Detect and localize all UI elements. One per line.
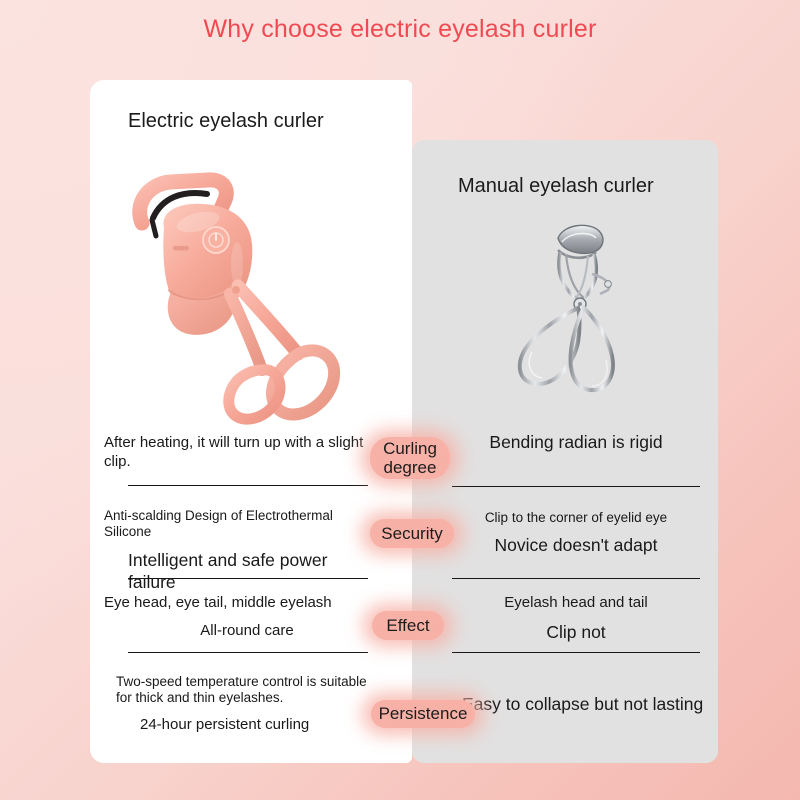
row-left-line: Two-speed temperature control is suitabl… (104, 674, 372, 707)
manual-curler-heading: Manual eyelash curler (458, 175, 654, 198)
row-right-content: Bending radian is rigid (448, 432, 704, 454)
electric-curler-heading: Electric eyelash curler (128, 110, 324, 133)
row-right-line: Clip not (448, 622, 704, 644)
row-right-line: Easy to collapse but not lasting (462, 694, 704, 716)
row-left-content: Eye head, eye tail, middle eyelash All-r… (104, 594, 372, 641)
row-left-line: Intelligent and safe power failure (104, 550, 372, 594)
row-divider-right (452, 578, 700, 579)
row-right-line: Bending radian is rigid (448, 432, 704, 454)
row-right-content: Easy to collapse but not lasting (448, 694, 704, 716)
category-badge-persistence: Persistence (371, 700, 475, 728)
category-badge-curling-degree: Curling degree (370, 437, 450, 479)
row-left-content: After heating, it will turn up with a sl… (104, 434, 372, 472)
row-divider-left (128, 652, 368, 653)
row-left-line: Eye head, eye tail, middle eyelash (104, 594, 372, 613)
row-left-content: Two-speed temperature control is suitabl… (104, 674, 372, 735)
row-divider-left (128, 578, 368, 579)
row-divider-right (452, 652, 700, 653)
row-right-line: Eyelash head and tail (448, 594, 704, 613)
row-right-line: Clip to the corner of eyelid eye (448, 510, 704, 526)
row-divider-right (452, 486, 700, 487)
row-divider-left (128, 485, 368, 486)
row-left-line: All-round care (104, 622, 372, 641)
row-right-content: Eyelash head and tail Clip not (448, 594, 704, 644)
page-title: Why choose electric eyelash curler (0, 15, 800, 44)
category-badge-security: Security (370, 519, 454, 548)
row-left-content: Anti-scalding Design of Electrothermal S… (104, 508, 372, 594)
row-right-line: Novice doesn't adapt (448, 535, 704, 557)
infographic-page: Why choose electric eyelash curler Elect… (0, 0, 800, 800)
row-right-content: Clip to the corner of eyelid eye Novice … (448, 510, 704, 557)
row-left-line: Anti-scalding Design of Electrothermal S… (104, 508, 372, 541)
manual-eyelash-curler-image (496, 212, 664, 408)
electric-eyelash-curler-image (112, 168, 384, 430)
row-left-line: 24-hour persistent curling (104, 716, 372, 735)
row-left-line: After heating, it will turn up with a sl… (104, 434, 372, 472)
category-badge-effect: Effect (372, 611, 444, 640)
